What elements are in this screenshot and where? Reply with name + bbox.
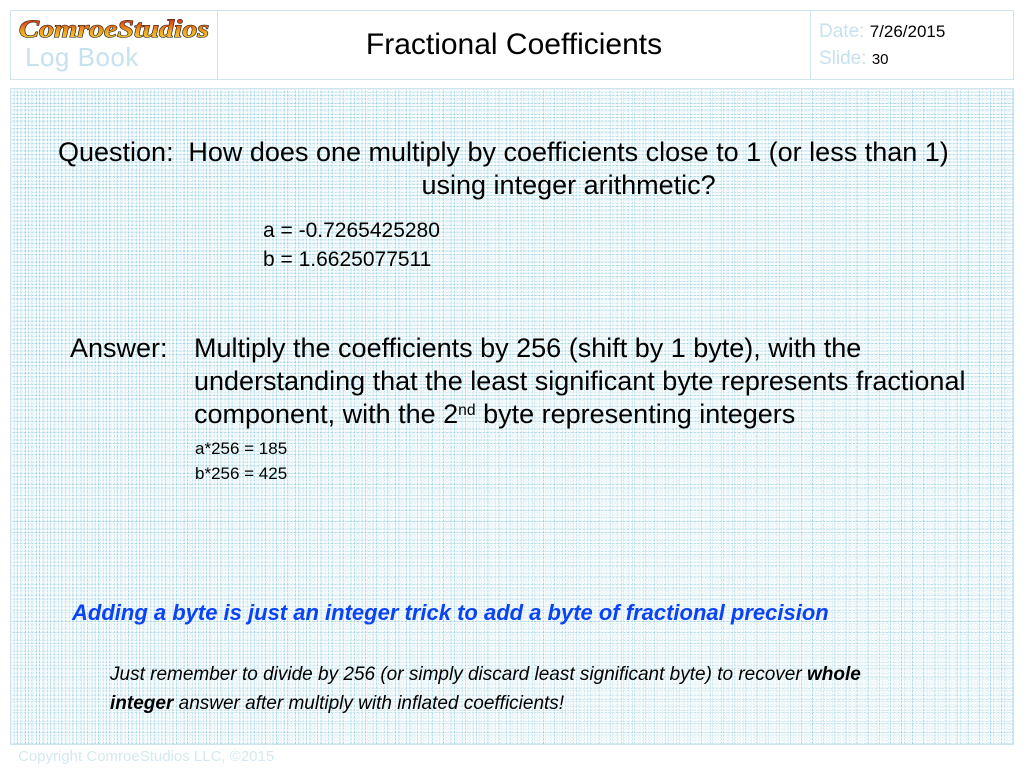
product-list: a*256 = 185 b*256 = 425 (195, 436, 287, 486)
note-part-2: answer after multiply with inflated coef… (173, 693, 564, 714)
comroestudios-logo-icon: ComroeStudios (17, 14, 213, 44)
coefficient-list: a = -0.7265425280 b = 1.6625077511 (263, 216, 440, 274)
coefficient-b: b = 1.6625077511 (263, 245, 440, 274)
date-label: Date: (819, 21, 864, 42)
slide-header: ComroeStudios Log Book Fractional Coeffi… (10, 10, 1014, 80)
slide-number-row: Slide: 30 (819, 45, 1013, 73)
slide: ComroeStudios Log Book Fractional Coeffi… (0, 0, 1024, 768)
header-title-cell: Fractional Coefficients (218, 11, 811, 79)
date-row: Date: 7/26/2015 (819, 18, 1013, 45)
question-text: How does one multiply by coefficients cl… (184, 136, 954, 202)
closing-note: Just remember to divide by 256 (or simpl… (110, 660, 910, 718)
slide-label: Slide: (819, 48, 867, 69)
answer-text: Multiply the coefficients by 256 (shift … (194, 332, 984, 431)
answer-ordinal-suffix: nd (458, 402, 475, 419)
note-part-1: Just remember to divide by 256 (or simpl… (110, 664, 807, 685)
answer-text-part-2: byte representing integers (476, 399, 796, 429)
product-a: a*256 = 185 (195, 436, 287, 461)
product-b: b*256 = 425 (195, 461, 287, 486)
copyright-footer: Copyright ComroeStudios LLC, ©2015 (18, 748, 274, 765)
header-meta-cell: Date: 7/26/2015 Slide: 30 (811, 11, 1013, 79)
page-title: Fractional Coefficients (366, 28, 662, 62)
emphasis-statement: Adding a byte is just an integer trick t… (72, 600, 829, 626)
slide-content: Question: How does one multiply by coeff… (10, 88, 1014, 745)
answer-label: Answer: (70, 332, 194, 365)
question-block: Question: How does one multiply by coeff… (58, 136, 988, 202)
date-value: 7/26/2015 (870, 22, 946, 41)
answer-block: Answer: Multiply the coefficients by 256… (70, 332, 1000, 431)
header-logo-cell: ComroeStudios Log Book (11, 11, 218, 79)
logo-subtitle: Log Book (25, 42, 139, 73)
question-label: Question: (58, 136, 174, 169)
slide-value: 30 (872, 51, 889, 68)
logo-wordmark-text: ComroeStudios (19, 16, 209, 43)
coefficient-a: a = -0.7265425280 (263, 216, 440, 245)
